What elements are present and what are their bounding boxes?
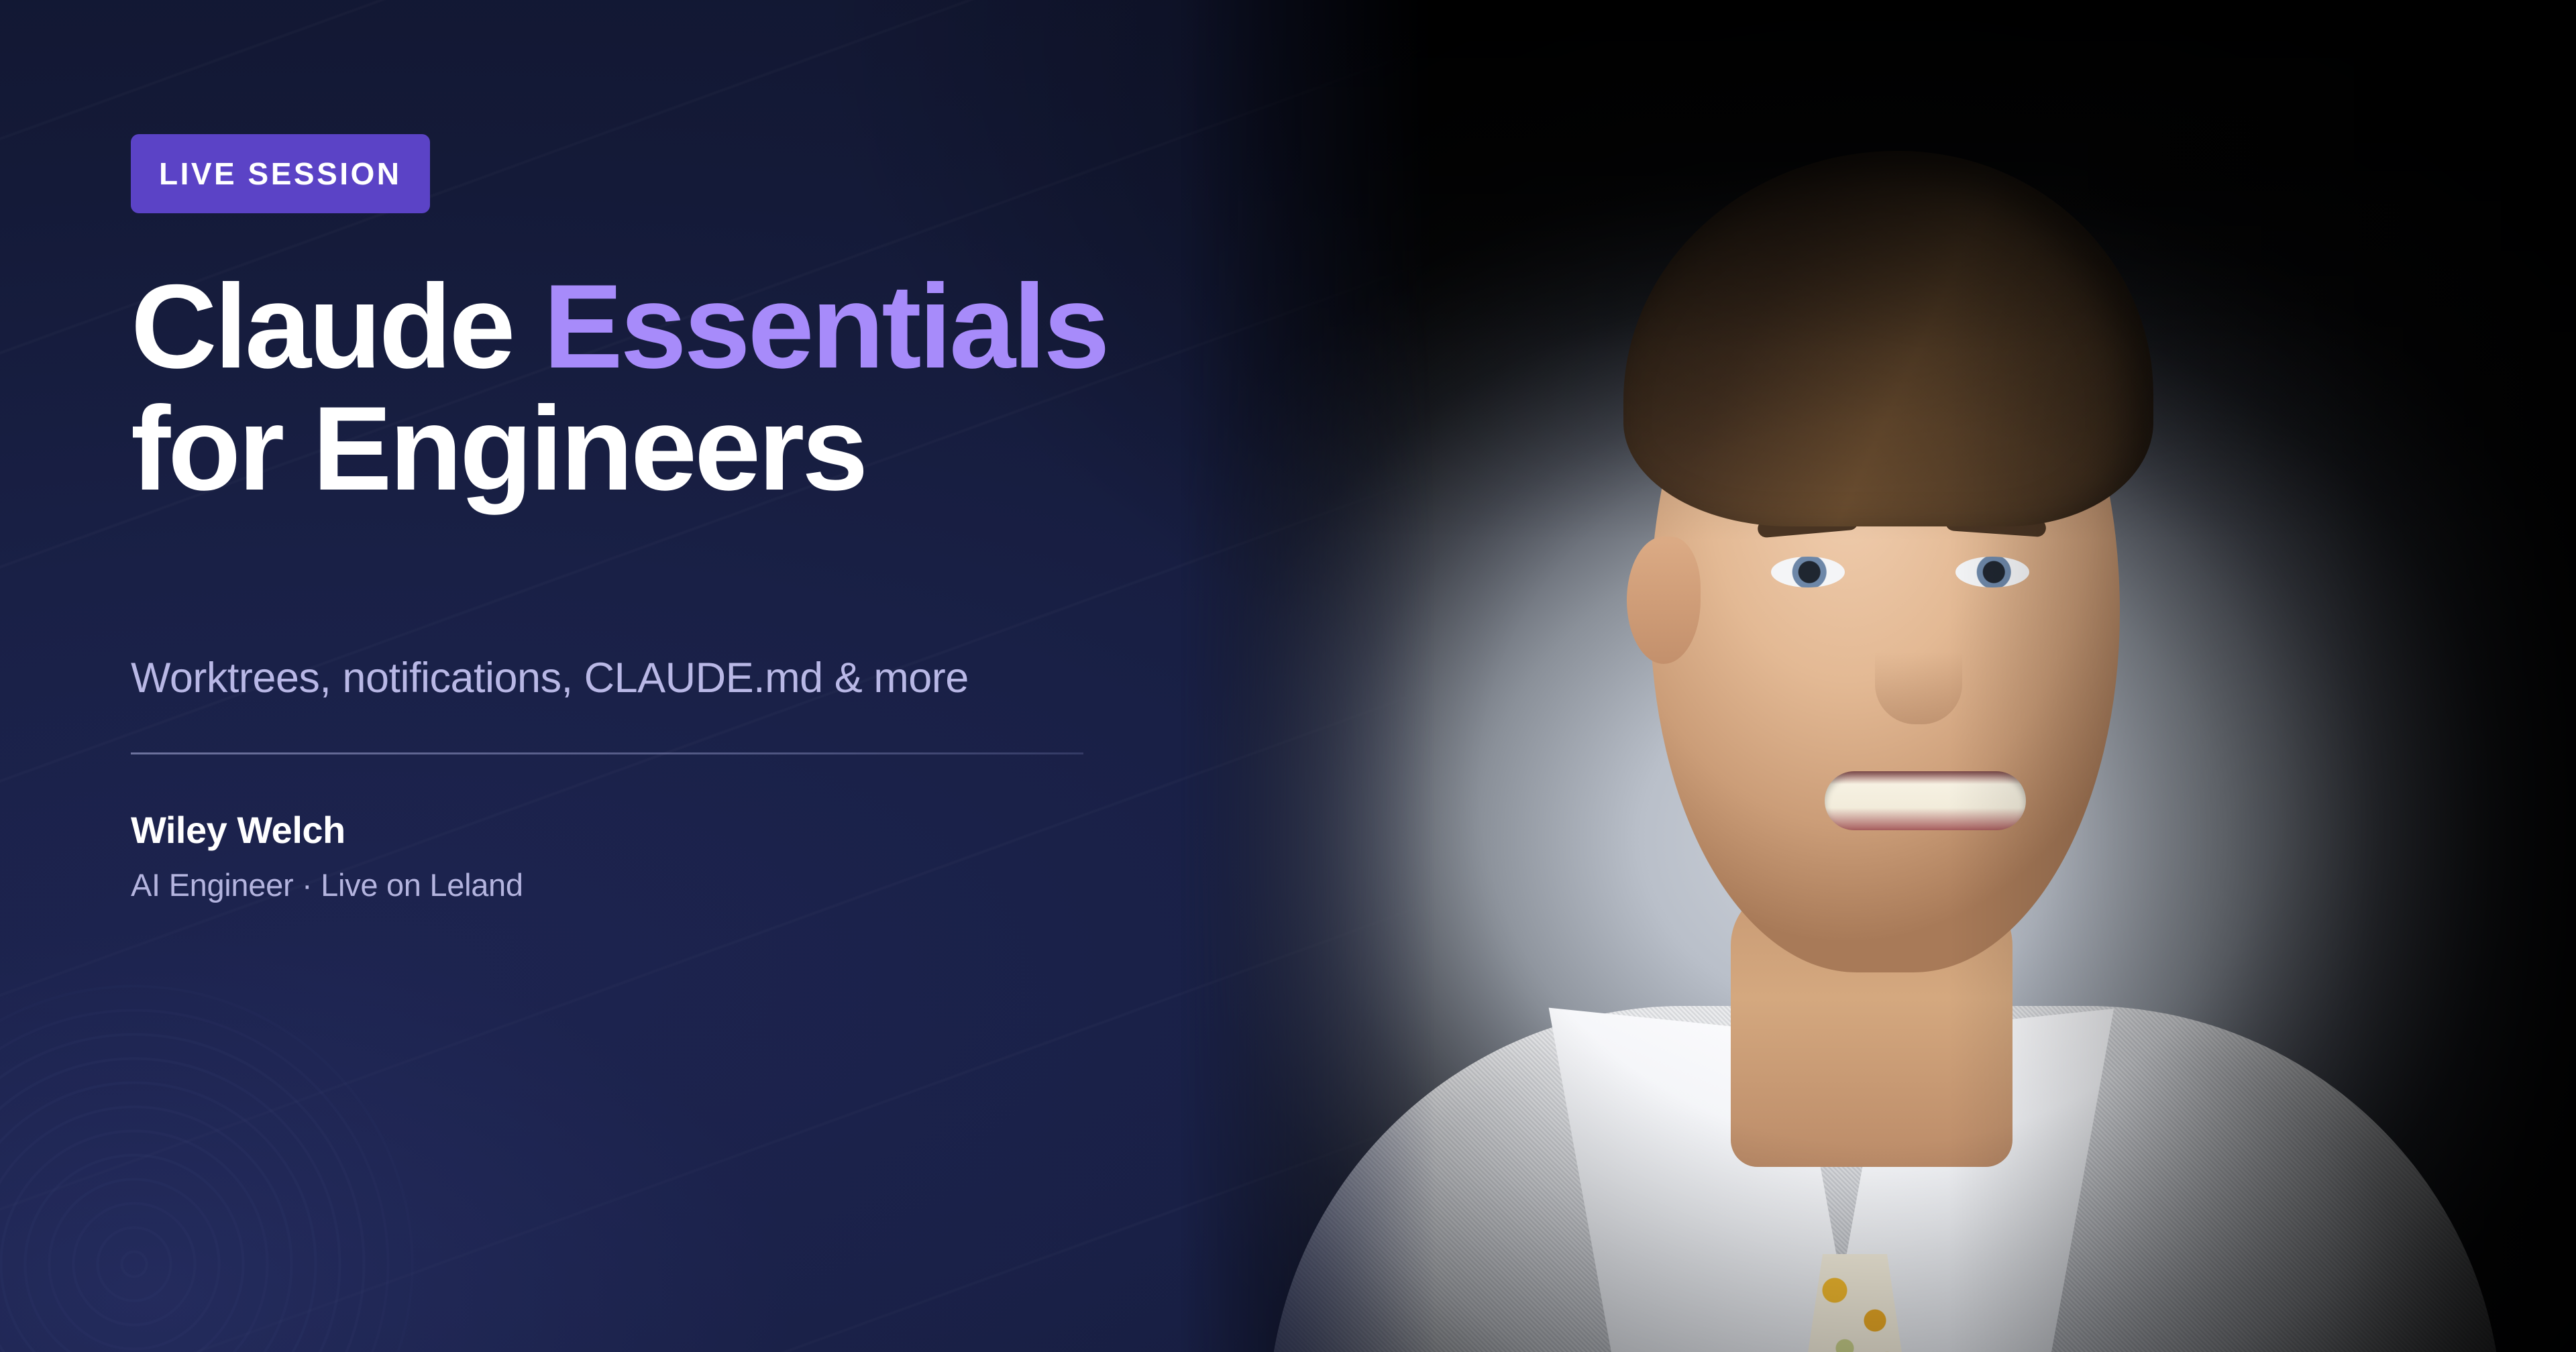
content-divider bbox=[131, 752, 1083, 754]
banner-content: LIVE SESSION Claude Essentials for Engin… bbox=[131, 0, 1271, 1352]
headline-word-claude: Claude bbox=[131, 260, 513, 393]
live-session-badge: LIVE SESSION bbox=[131, 134, 430, 213]
photo-right-shadow bbox=[1181, 0, 2576, 1352]
presenter-name: Wiley Welch bbox=[131, 808, 523, 852]
headline-line-2: for Engineers bbox=[131, 388, 1271, 510]
promo-banner: LIVE SESSION Claude Essentials for Engin… bbox=[0, 0, 2576, 1352]
presenter-photo bbox=[1181, 0, 2576, 1352]
presenter-block: Wiley Welch AI Engineer · Live on Leland bbox=[131, 808, 523, 903]
headline-word-essentials: Essentials bbox=[543, 260, 1108, 393]
headline-line-1: Claude Essentials bbox=[131, 266, 1271, 388]
session-subtitle: Worktrees, notifications, CLAUDE.md & mo… bbox=[131, 654, 969, 702]
page-title: Claude Essentials for Engineers bbox=[131, 266, 1271, 509]
presenter-role: AI Engineer · Live on Leland bbox=[131, 866, 523, 903]
